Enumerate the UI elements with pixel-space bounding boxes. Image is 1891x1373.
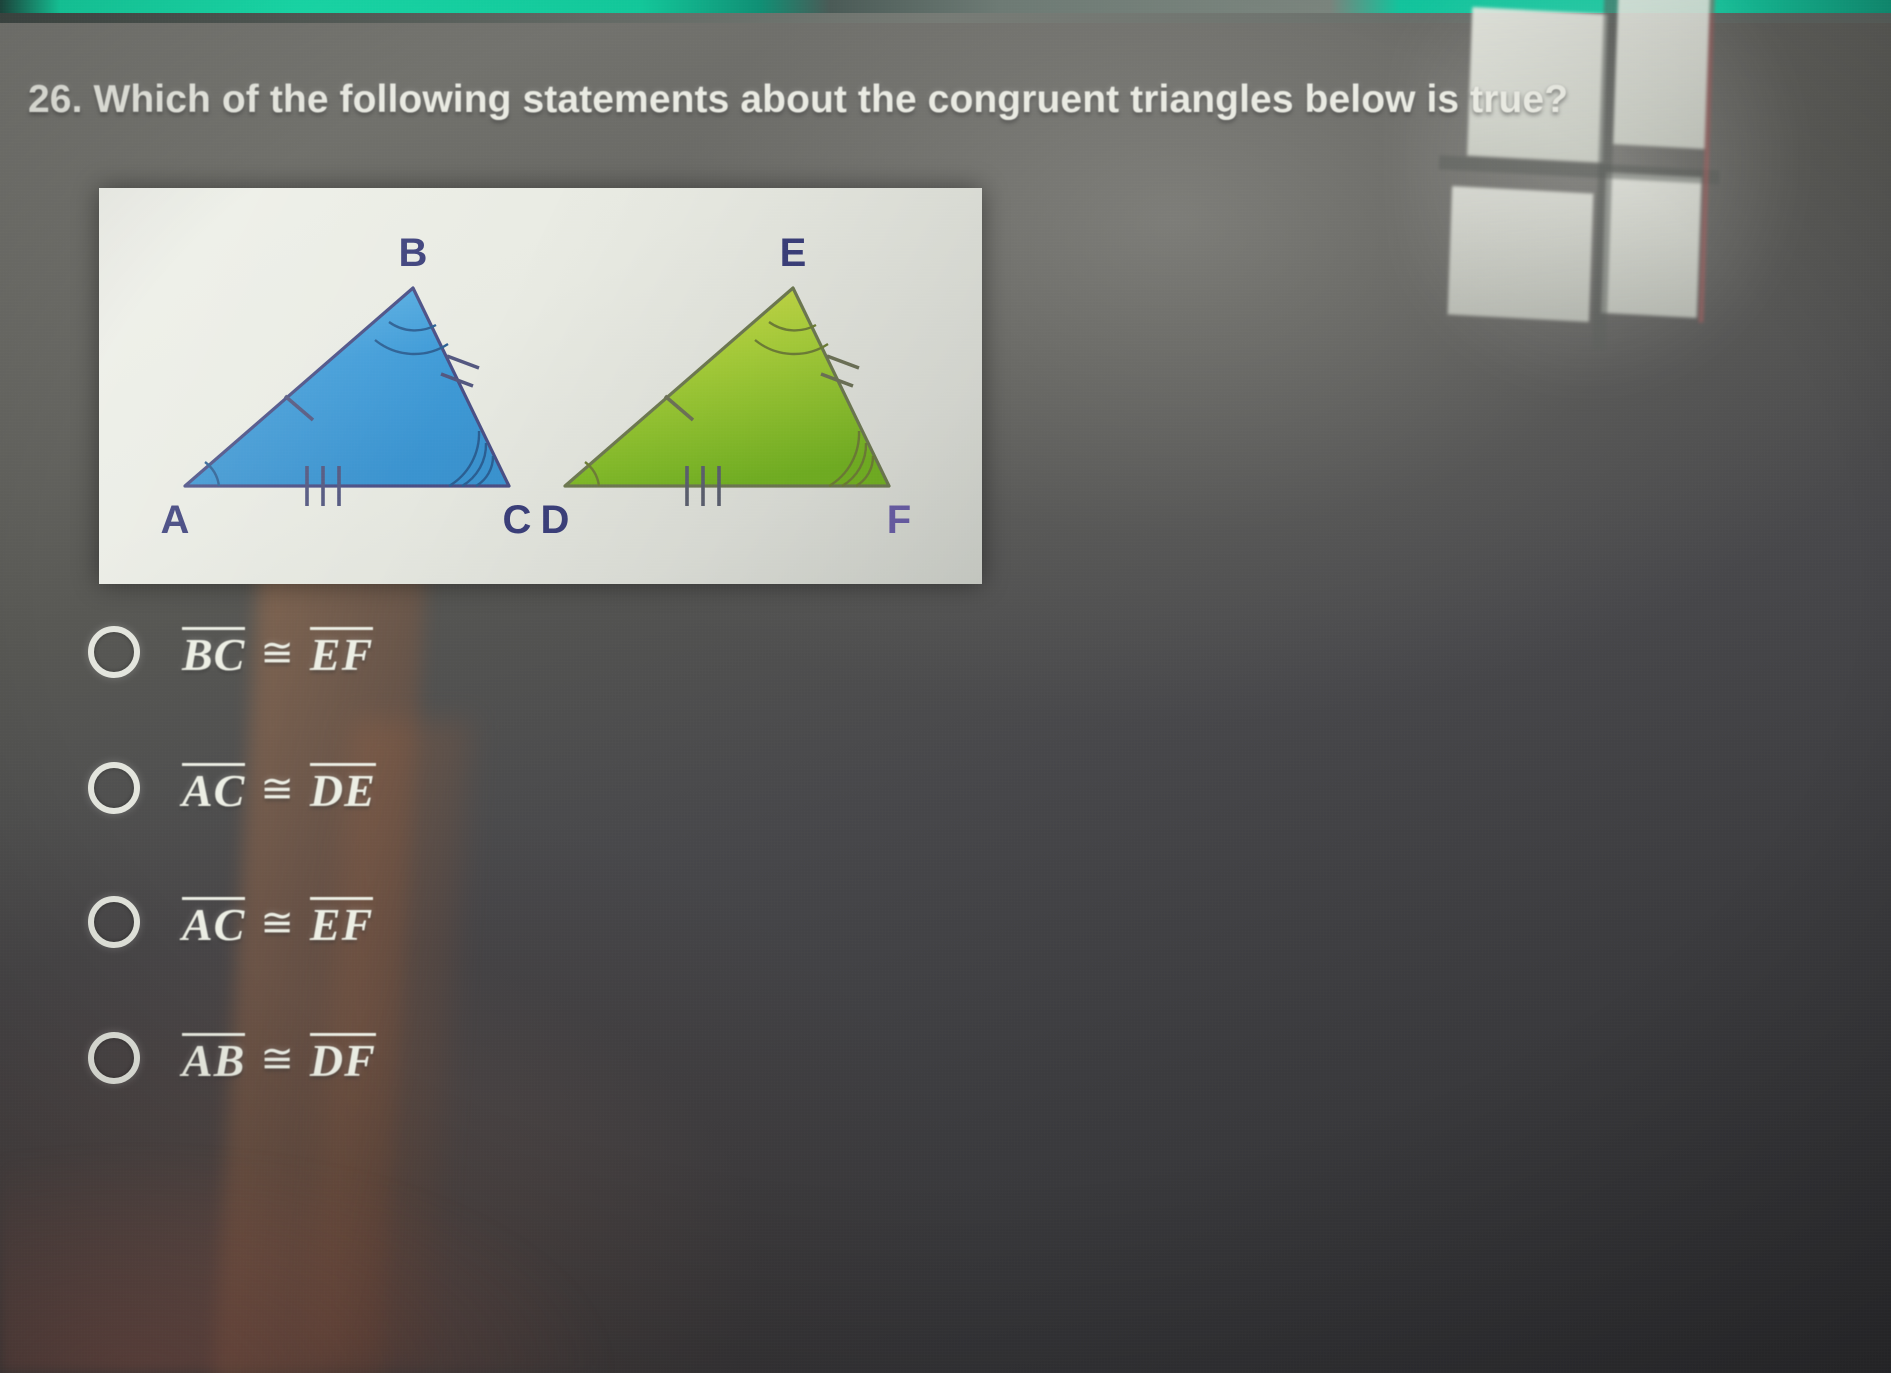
vertex-label-f: F: [887, 498, 911, 542]
segment-left-a: BC: [182, 627, 245, 678]
segment-left-c: AC: [182, 897, 245, 948]
option-label-c: AC ≅ EF: [182, 897, 373, 948]
segment-left-d: AB: [182, 1033, 245, 1084]
segment-right-d: DF: [310, 1033, 376, 1084]
vertex-label-d: D: [541, 498, 570, 542]
triangle-def-shape: [565, 288, 889, 486]
congruence-symbol-a: ≅: [258, 629, 297, 676]
option-row-b[interactable]: AC ≅ DE: [88, 762, 376, 814]
congruence-symbol-d: ≅: [258, 1035, 297, 1082]
segment-right-b: DE: [310, 763, 376, 814]
segment-right-c: EF: [310, 897, 373, 948]
warm-floor-glow: [0, 1143, 620, 1373]
vertex-label-c: C: [503, 498, 532, 542]
triangle-abc-group: B A C: [161, 231, 532, 542]
congruence-symbol-c: ≅: [258, 899, 297, 946]
option-row-d[interactable]: AB ≅ DF: [88, 1032, 376, 1084]
vertex-label-b: B: [399, 231, 428, 275]
radio-button-a[interactable]: [88, 626, 140, 678]
option-label-d: AB ≅ DF: [182, 1033, 376, 1084]
vertex-label-a: A: [161, 498, 190, 542]
radio-button-d[interactable]: [88, 1032, 140, 1084]
vertex-label-e: E: [780, 231, 807, 275]
radio-button-b[interactable]: [88, 762, 140, 814]
screen-photo: 26. Which of the following statements ab…: [0, 0, 1891, 1373]
figure-card: B A C: [99, 188, 982, 584]
option-label-a: BC ≅ EF: [182, 627, 373, 678]
option-label-b: AC ≅ DE: [182, 763, 376, 814]
window-reflection-icon: [1424, 0, 1767, 371]
triangle-def-group: E D F: [541, 231, 912, 542]
option-row-c[interactable]: AC ≅ EF: [88, 896, 373, 948]
question-text: 26. Which of the following statements ab…: [28, 78, 1868, 122]
segment-right-a: EF: [310, 627, 373, 678]
radio-button-c[interactable]: [88, 896, 140, 948]
congruent-triangles-figure: B A C: [99, 188, 982, 584]
segment-left-b: AC: [182, 763, 245, 814]
congruence-symbol-b: ≅: [258, 765, 297, 812]
triangle-abc-shape: [185, 288, 509, 486]
option-row-a[interactable]: BC ≅ EF: [88, 626, 373, 678]
